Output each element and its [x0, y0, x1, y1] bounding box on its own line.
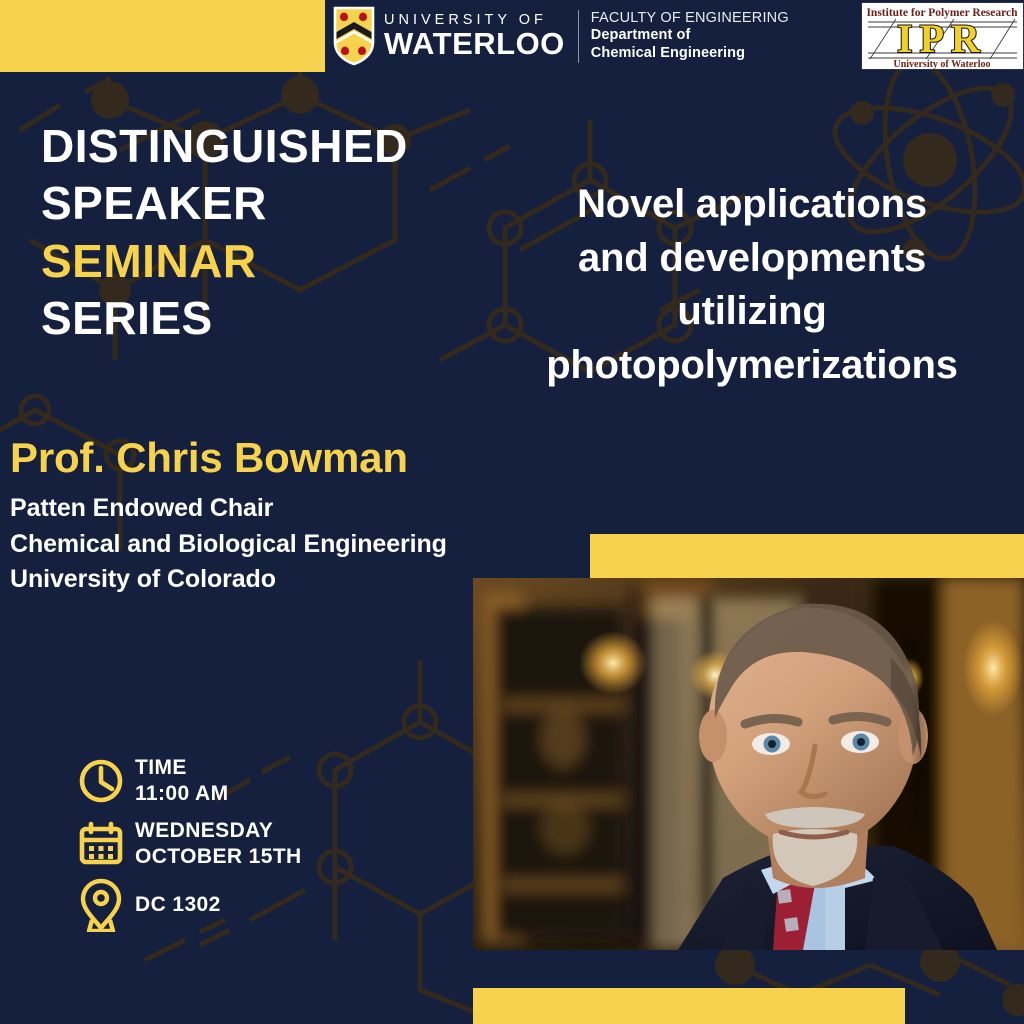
date-day: WEDNESDAY	[135, 818, 302, 844]
speaker-portrait-image	[473, 578, 1024, 950]
detail-text-date: WEDNESDAY OCTOBER 15TH	[135, 818, 302, 871]
headline-line-seminar: SEMINAR	[41, 237, 408, 285]
map-pin-icon	[78, 880, 126, 930]
speaker-name: Prof. Chris Bowman	[10, 435, 447, 481]
uw-wordmark-line2: WATERLOO	[384, 28, 565, 59]
speaker-portrait	[473, 578, 1024, 950]
seminar-title: Novel applications and developments util…	[480, 178, 1024, 392]
time-label: TIME	[135, 755, 228, 781]
seminar-title-line3: utilizing	[480, 285, 1024, 339]
department-line1: Department of	[591, 27, 789, 44]
seminar-poster: UNIVERSITY OF WATERLOO FACULTY OF ENGINE…	[0, 0, 1024, 1024]
uw-shield-icon	[333, 6, 375, 66]
ipr-logo: Institute for Polymer Research IPR Unive…	[861, 2, 1024, 70]
speaker-affiliation-line1: Patten Endowed Chair	[10, 491, 447, 527]
poster-header: UNIVERSITY OF WATERLOO FACULTY OF ENGINE…	[0, 0, 1024, 72]
series-headline: DISTINGUISHED SPEAKER SEMINAR SERIES	[41, 122, 408, 351]
header-divider	[578, 10, 579, 63]
detail-row-location: DC 1302	[78, 880, 302, 930]
detail-row-date: WEDNESDAY OCTOBER 15TH	[78, 818, 302, 871]
date-value: OCTOBER 15TH	[135, 844, 302, 870]
location-value: DC 1302	[135, 892, 221, 918]
speaker-affiliation-line3: University of Colorado	[10, 562, 447, 598]
calendar-icon	[78, 819, 126, 869]
headline-line-series: SERIES	[41, 294, 408, 342]
svg-text:University of Waterloo: University of Waterloo	[893, 59, 990, 69]
detail-text-location: DC 1302	[135, 892, 221, 918]
faculty-department-block: FACULTY OF ENGINEERING Department of Che…	[591, 10, 789, 61]
seminar-title-line2: and developments	[480, 232, 1024, 286]
speaker-affiliation-line2: Chemical and Biological Engineering	[10, 527, 447, 563]
accent-bar-top	[590, 534, 1024, 579]
detail-text-time: TIME 11:00 AM	[135, 755, 228, 808]
seminar-title-line4: photopolymerizations	[480, 339, 1024, 393]
uw-wordmark: UNIVERSITY OF WATERLOO	[384, 13, 565, 60]
uw-wordmark-line1: UNIVERSITY OF	[384, 13, 565, 28]
seminar-title-line1: Novel applications	[480, 178, 1024, 232]
time-value: 11:00 AM	[135, 781, 228, 807]
svg-text:IPR: IPR	[897, 16, 987, 61]
headline-line-speaker: SPEAKER	[41, 179, 408, 227]
faculty-name: FACULTY OF ENGINEERING	[591, 10, 789, 27]
speaker-affiliation: Patten Endowed Chair Chemical and Biolog…	[10, 491, 447, 598]
headline-line-distinguished: DISTINGUISHED	[41, 122, 408, 170]
event-details: TIME 11:00 AM	[78, 755, 302, 940]
accent-bar-bottom	[473, 988, 905, 1024]
ipr-logo-graphic: Institute for Polymer Research IPR Unive…	[862, 3, 1023, 69]
detail-row-time: TIME 11:00 AM	[78, 755, 302, 808]
department-line2: Chemical Engineering	[591, 45, 789, 62]
clock-icon	[78, 756, 126, 806]
speaker-block: Prof. Chris Bowman Patten Endowed Chair …	[10, 435, 447, 598]
header-yellow-accent-block	[0, 0, 325, 72]
